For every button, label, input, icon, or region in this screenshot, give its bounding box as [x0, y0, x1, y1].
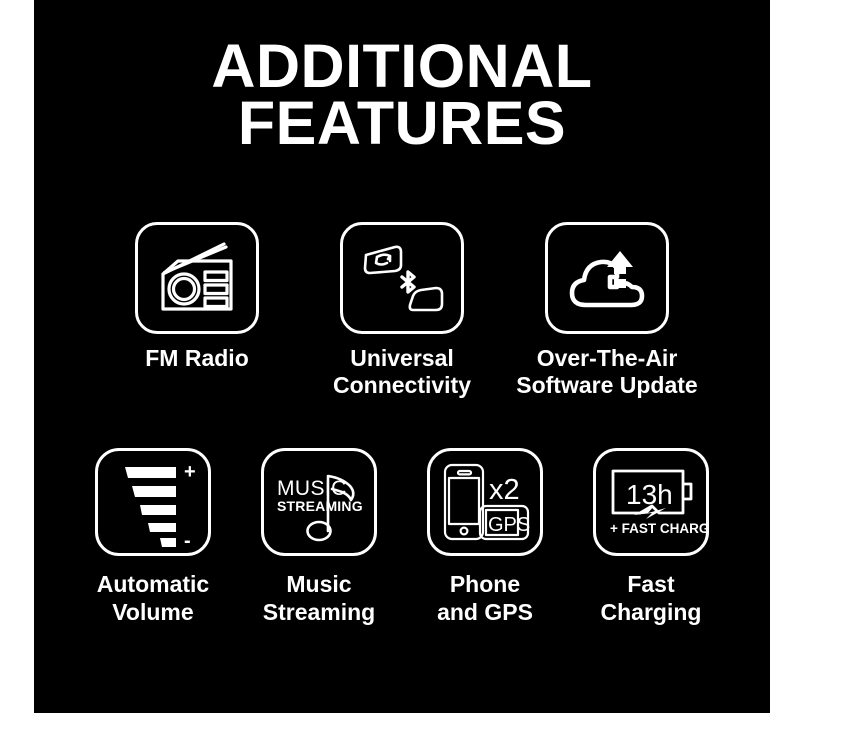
feature-label-universal-connectivity: Universal Connectivity — [333, 345, 471, 399]
feature-label-phone-and-gps: Phone and GPS — [437, 570, 533, 626]
feature-item-fm-radio[interactable]: FM Radio — [95, 222, 300, 399]
battery-hours-label: 13h — [626, 479, 673, 510]
feature-item-music-streaming[interactable]: MUSIC STREAMING Music Streaming — [236, 448, 402, 626]
volume-plus-label: + — [184, 461, 196, 483]
feature-label-automatic-volume: Automatic Volume — [97, 570, 209, 626]
fast-charging-icon: 13h + FAST CHARGE — [593, 448, 709, 556]
feature-label-fast-charging: Fast Charging — [601, 570, 702, 626]
feature-label-music-streaming: Music Streaming — [263, 570, 375, 626]
feature-item-fast-charging[interactable]: 13h + FAST CHARGE Fast Charging — [568, 448, 734, 626]
page-title-line-2: FEATURES — [34, 95, 770, 152]
gps-label: GPS — [488, 514, 530, 536]
feature-row-1: FM Radio — [34, 222, 770, 399]
feature-row-2: + - Automatic Volume MUSIC STREAMING — [34, 448, 770, 626]
universal-connectivity-icon — [340, 222, 464, 334]
feature-item-phone-and-gps[interactable]: x2 GPS Phone and GPS — [402, 448, 568, 626]
fast-charge-label: + FAST CHARGE — [610, 521, 706, 536]
page-title-line-1: ADDITIONAL — [34, 38, 770, 95]
volume-minus-label: - — [184, 530, 191, 552]
page-title: ADDITIONAL FEATURES — [34, 38, 770, 152]
feature-item-over-the-air-update[interactable]: Over-The-Air Software Update — [505, 222, 710, 399]
black-panel: ADDITIONAL FEATURES — [34, 0, 770, 713]
phone-multiplier-label: x2 — [489, 474, 520, 506]
music-word-label: MUSIC — [277, 477, 347, 500]
fm-radio-icon — [135, 222, 259, 334]
music-streaming-icon: MUSIC STREAMING — [261, 448, 377, 556]
feature-item-automatic-volume[interactable]: + - Automatic Volume — [70, 448, 236, 626]
phone-and-gps-icon: x2 GPS — [427, 448, 543, 556]
poster-page: ADDITIONAL FEATURES — [0, 0, 846, 733]
over-the-air-update-icon — [545, 222, 669, 334]
feature-label-over-the-air-update: Over-The-Air Software Update — [516, 345, 697, 399]
feature-item-universal-connectivity[interactable]: Universal Connectivity — [300, 222, 505, 399]
automatic-volume-icon: + - — [95, 448, 211, 556]
feature-label-fm-radio: FM Radio — [145, 345, 249, 372]
